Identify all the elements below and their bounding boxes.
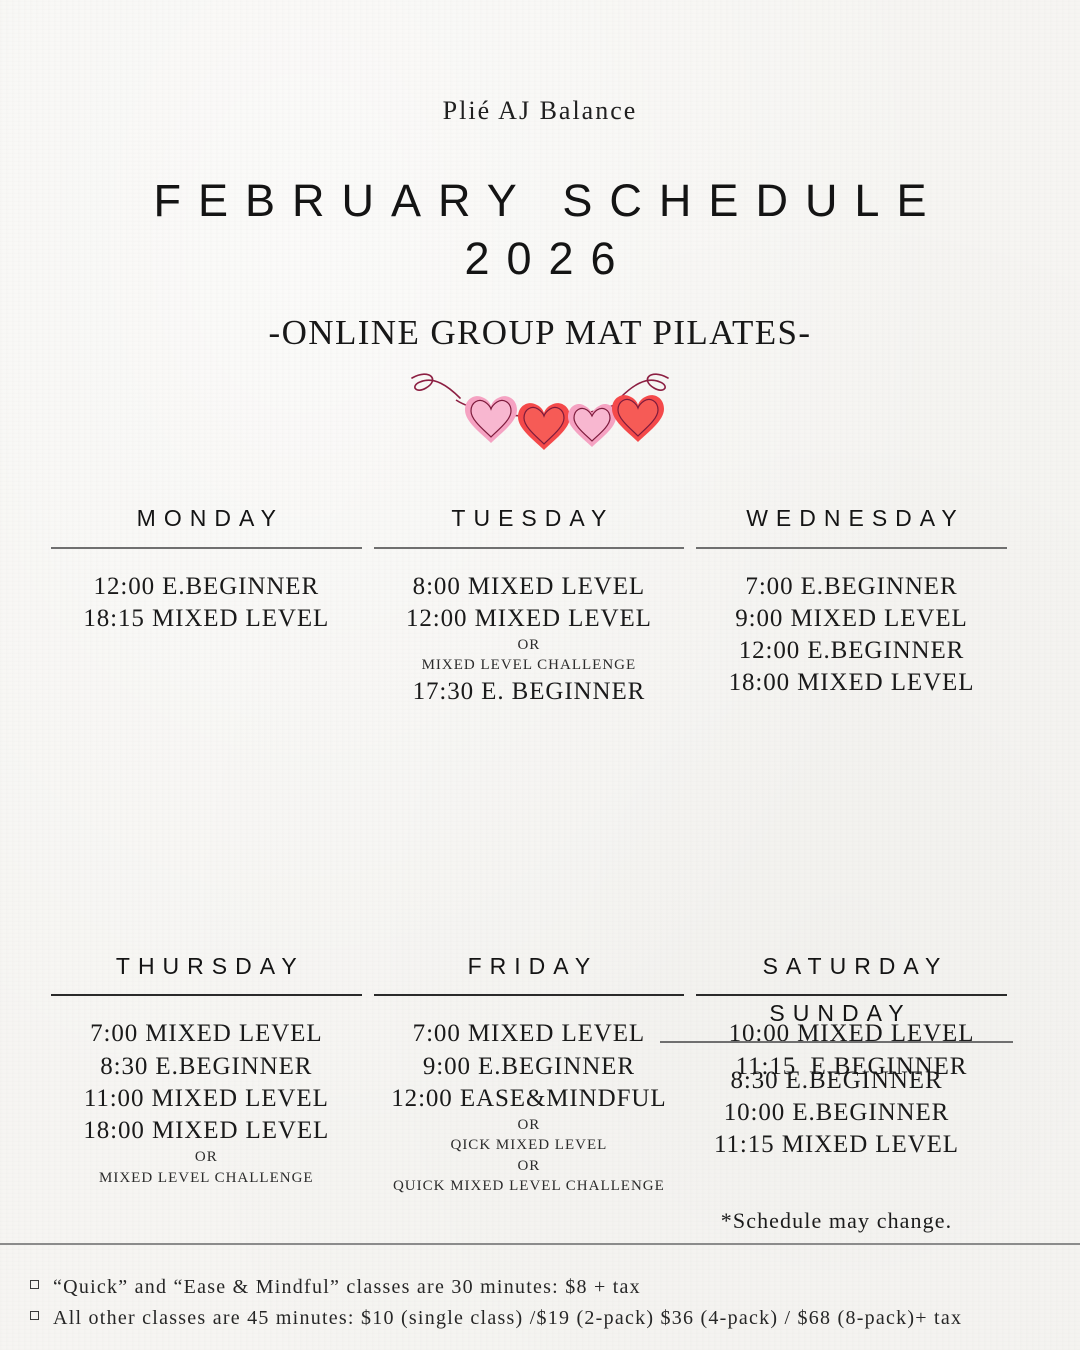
day-heading-saturday: SATURDAY xyxy=(696,953,1007,981)
class-list-sunday: 8:30 E.BEGINNER 10:00 E.BEGINNER 11:15 M… xyxy=(660,1065,1013,1162)
footer-note-text: All other classes are 45 minutes: $10 (s… xyxy=(53,1303,962,1334)
class-entry: 11:15 MIXED LEVEL xyxy=(660,1129,1013,1161)
day-rule-wednesday xyxy=(696,547,1007,549)
class-entry: 8:00 MIXED LEVEL xyxy=(374,571,685,603)
footer-note-item: All other classes are 45 minutes: $10 (s… xyxy=(30,1303,1060,1334)
schedule-row-1: MONDAY 12:00 E.BEGINNER 18:15 MIXED LEVE… xyxy=(45,505,1013,708)
page-title-year: 2026 xyxy=(0,230,1080,288)
square-bullet-icon xyxy=(30,1311,39,1320)
class-entry: 18:15 MIXED LEVEL xyxy=(51,603,362,635)
class-entry: 12:00 E.BEGINNER xyxy=(51,571,362,603)
class-entry: 18:00 MIXED LEVEL xyxy=(696,667,1007,699)
class-entry: 8:30 E.BEGINNER xyxy=(660,1065,1013,1097)
class-entry: 9:00 MIXED LEVEL xyxy=(696,603,1007,635)
class-list-friday: 7:00 MIXED LEVEL 9:00 E.BEGINNER 12:00 E… xyxy=(374,1018,685,1196)
day-column-thursday: THURSDAY 7:00 MIXED LEVEL 8:30 E.BEGINNE… xyxy=(45,953,368,1196)
schedule-change-note: *Schedule may change. xyxy=(660,1208,1013,1234)
class-entry: 12:00 MIXED LEVEL xyxy=(374,603,685,635)
day-heading-sunday: SUNDAY xyxy=(660,1000,1013,1028)
class-entry-alt-separator: OR xyxy=(374,635,685,655)
class-entry: 8:30 E.BEGINNER xyxy=(51,1051,362,1083)
footer-note-item: “Quick” and “Ease & Mindful” classes are… xyxy=(30,1272,1060,1303)
class-list-wednesday: 7:00 E.BEGINNER 9:00 MIXED LEVEL 12:00 E… xyxy=(696,571,1007,700)
class-entry-alt: MIXED LEVEL CHALLENGE xyxy=(374,655,685,675)
class-entry: 18:00 MIXED LEVEL xyxy=(51,1115,362,1147)
class-entry-alt: QICK MIXED LEVEL xyxy=(374,1135,685,1155)
square-bullet-icon xyxy=(30,1280,39,1289)
day-rule-saturday xyxy=(696,994,1007,996)
page-subtitle: -ONLINE GROUP MAT PILATES- xyxy=(0,315,1080,350)
day-column-tuesday: TUESDAY 8:00 MIXED LEVEL 12:00 MIXED LEV… xyxy=(368,505,691,708)
day-rule-tuesday xyxy=(374,547,685,549)
heart-4-red xyxy=(612,395,664,442)
heart-3-pink xyxy=(568,404,616,447)
class-entry: 7:00 MIXED LEVEL xyxy=(374,1018,685,1050)
heart-2-red xyxy=(518,403,570,450)
class-entry-alt-separator: OR xyxy=(374,1156,685,1176)
day-heading-monday: MONDAY xyxy=(51,505,362,533)
day-heading-thursday: THURSDAY xyxy=(51,953,362,981)
footer-note-text: “Quick” and “Ease & Mindful” classes are… xyxy=(53,1272,641,1303)
day-heading-wednesday: WEDNESDAY xyxy=(696,505,1007,533)
class-entry-alt: MIXED LEVEL CHALLENGE xyxy=(51,1168,362,1188)
page-title: FEBRUARY SCHEDULE xyxy=(0,172,1080,230)
day-rule-thursday xyxy=(51,994,362,996)
footer-notes: “Quick” and “Ease & Mindful” classes are… xyxy=(30,1272,1060,1334)
class-entry: 7:00 E.BEGINNER xyxy=(696,571,1007,603)
schedule-poster: Plié AJ Balance FEBRUARY SCHEDULE 2026 -… xyxy=(0,0,1080,1350)
day-rule-monday xyxy=(51,547,362,549)
class-list-monday: 12:00 E.BEGINNER 18:15 MIXED LEVEL xyxy=(51,571,362,636)
day-rule-sunday xyxy=(660,1041,1013,1043)
brand-name: Plié AJ Balance xyxy=(0,0,1080,124)
class-entry-alt-separator: OR xyxy=(374,1115,685,1135)
class-entry: 17:30 E. BEGINNER xyxy=(374,676,685,708)
class-entry: 12:00 EASE&MINDFUL xyxy=(374,1083,685,1115)
class-entry: 11:00 MIXED LEVEL xyxy=(51,1083,362,1115)
class-list-tuesday: 8:00 MIXED LEVEL 12:00 MIXED LEVEL OR MI… xyxy=(374,571,685,708)
heart-1-pink xyxy=(465,396,517,443)
class-entry: 12:00 E.BEGINNER xyxy=(696,635,1007,667)
day-heading-friday: FRIDAY xyxy=(374,953,685,981)
class-entry-alt: QUICK MIXED LEVEL CHALLENGE xyxy=(374,1176,685,1196)
class-entry: 9:00 E.BEGINNER xyxy=(374,1051,685,1083)
day-column-friday: FRIDAY 7:00 MIXED LEVEL 9:00 E.BEGINNER … xyxy=(368,953,691,1196)
class-entry: 7:00 MIXED LEVEL xyxy=(51,1018,362,1050)
class-entry-alt-separator: OR xyxy=(51,1147,362,1167)
day-heading-tuesday: TUESDAY xyxy=(374,505,685,533)
day-column-monday: MONDAY 12:00 E.BEGINNER 18:15 MIXED LEVE… xyxy=(45,505,368,708)
footer-divider xyxy=(0,1243,1080,1245)
class-entry: 10:00 E.BEGINNER xyxy=(660,1097,1013,1129)
day-rule-friday xyxy=(374,994,685,996)
class-list-thursday: 7:00 MIXED LEVEL 8:30 E.BEGINNER 11:00 M… xyxy=(51,1018,362,1188)
heart-garland-icon xyxy=(390,364,690,464)
day-column-sunday: SUNDAY 8:30 E.BEGINNER 10:00 E.BEGINNER … xyxy=(660,1000,1013,1161)
day-column-wednesday: WEDNESDAY 7:00 E.BEGINNER 9:00 MIXED LEV… xyxy=(690,505,1013,708)
